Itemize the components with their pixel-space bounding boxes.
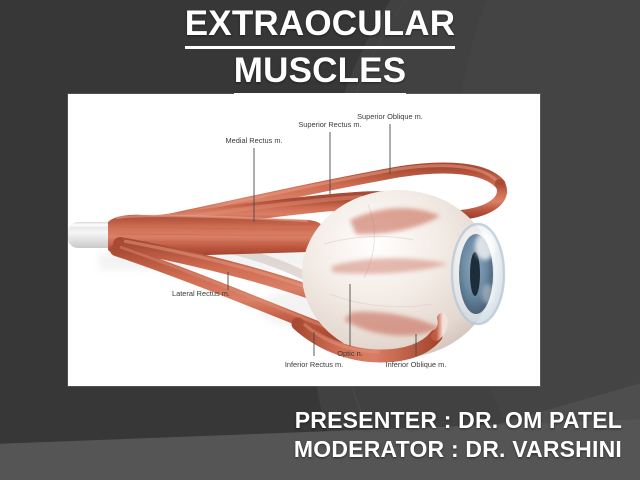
label-medial-rectus: Medial Rectus m. [225,136,282,145]
slide-title: EXTRAOCULAR MUSCLES [0,2,640,96]
cornea-and-iris [452,224,504,324]
label-optic-nerve: Optic n. [337,349,362,358]
presentation-slide: EXTRAOCULAR MUSCLES [0,0,640,480]
pupil [470,252,480,296]
credits-block: PRESENTER : DR. OM PATEL MODERATOR : DR.… [294,406,622,464]
label-superior-rectus: Superior Rectus m. [298,120,361,129]
label-lateral-rectus: Lateral Rectus m. [172,289,230,298]
presenter-line: PRESENTER : DR. OM PATEL [294,406,622,435]
label-inferior-oblique: Inferior Oblique m. [386,360,447,369]
moderator-line: MODERATOR : DR. VARSHINI [294,435,622,464]
label-inferior-rectus: Inferior Rectus m. [285,360,343,369]
anatomy-figure-image: Superior Oblique m. Superior Rectus m. M… [68,94,540,386]
title-line-1: EXTRAOCULAR [185,2,456,49]
label-superior-oblique: Superior Oblique m. [357,112,423,121]
title-line-2: MUSCLES [234,49,407,96]
